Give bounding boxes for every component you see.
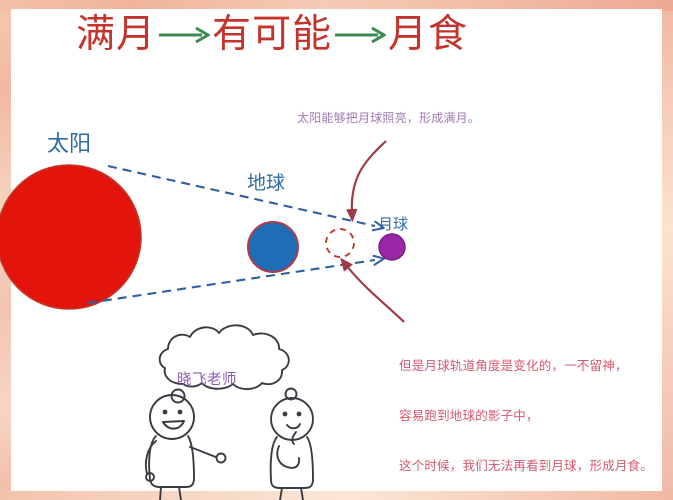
- label-earth: 地球: [247, 172, 285, 196]
- annotation-bottom-line-3: 这个时候，我们无法再看到月球，形成月食。: [399, 458, 653, 474]
- label-moon: 月球: [378, 215, 408, 234]
- stick-figure-student: [271, 398, 313, 500]
- annotation-arrow-top: [352, 141, 386, 213]
- moon-body: [379, 234, 405, 260]
- title-word-possible: 有可能: [212, 10, 332, 60]
- right-arrow-icon: [158, 22, 210, 48]
- annotation-bottom-line-2: 容易跑到地球的影子中，: [399, 408, 653, 424]
- sun-body: [0, 165, 141, 309]
- thought-bubble: [160, 325, 297, 402]
- annotation-arrow-bottom: [346, 265, 404, 322]
- label-sun: 太阳: [47, 130, 91, 158]
- annotation-bottom-line-1: 但是月球轨道角度是变化的，一不留神，: [399, 358, 653, 374]
- earth-body: [248, 222, 298, 272]
- title-word-full-moon: 满月: [76, 10, 156, 60]
- characters-group: [146, 325, 313, 500]
- annotation-text-top: 太阳能够把月球照亮，形成满月。: [297, 111, 480, 126]
- annotation-text-bottom: 但是月球轨道角度是变化的，一不留神， 容易跑到地球的影子中， 这个时候，我们无法…: [399, 326, 653, 500]
- thought-bubble-text: 晓飞老师: [177, 371, 237, 390]
- stick-figure-teacher: [146, 395, 226, 500]
- moon-in-shadow-dashed-circle: [326, 229, 354, 257]
- slide-canvas: 满月 有可能 月食 太阳 地球 月球 太阳能够把月球照亮，形成满月。 但是月球轨…: [0, 0, 673, 500]
- title-word-lunar-eclipse: 月食: [388, 10, 468, 60]
- page-title: 满月 有可能 月食: [76, 8, 468, 62]
- right-arrow-icon-2: [334, 22, 386, 48]
